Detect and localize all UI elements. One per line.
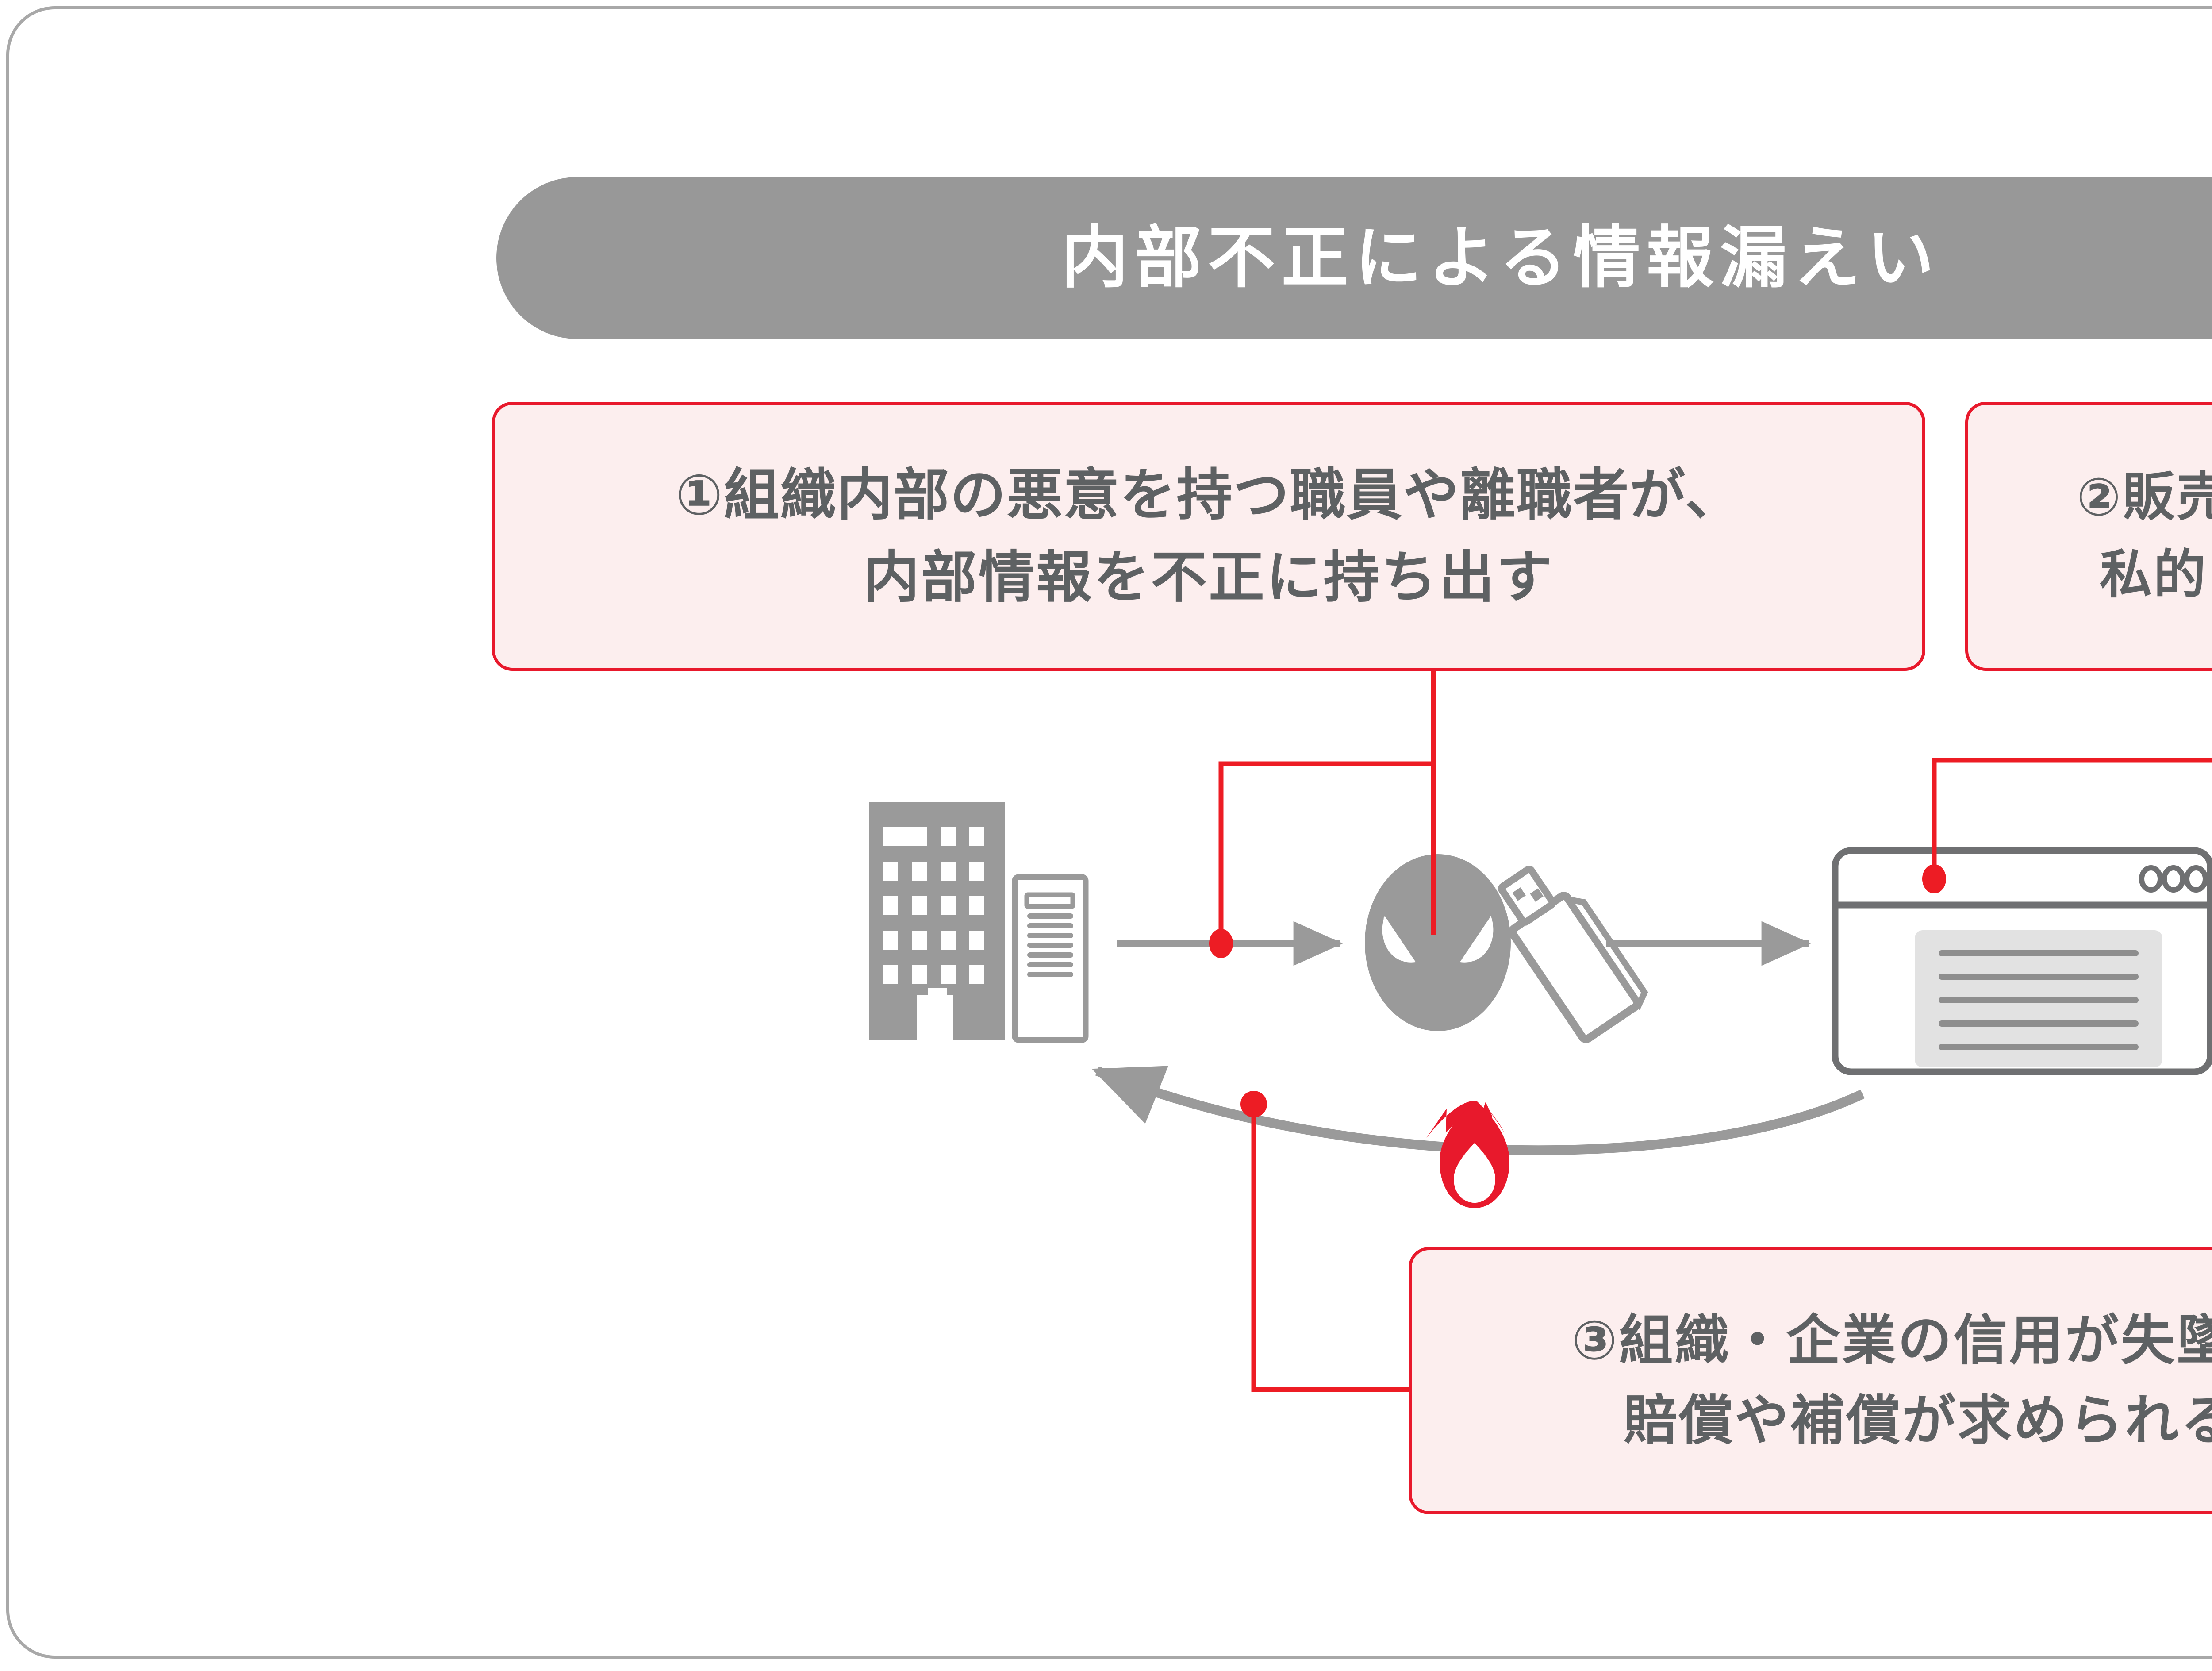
browser-window-icon <box>1835 851 2210 1072</box>
callout-3-line-2: 賠償や補償が求められる。 <box>1623 1381 2212 1461</box>
flame-icon <box>1427 1101 1509 1208</box>
callout-2-line-2: 私的に利用 <box>2100 536 2212 614</box>
figure-canvas: 内部不正による情報漏えい <box>0 0 2212 1671</box>
usb-flash-drive-icon <box>1488 854 1648 1041</box>
connector-dot <box>1240 1091 1267 1117</box>
document-building-icon <box>1015 877 1086 1040</box>
masked-thief-icon <box>1365 854 1511 1031</box>
connector-dot <box>1209 929 1233 958</box>
callout-box-3: ③組織・企業の信用が失墜し、 賠償や補償が求められる。 <box>1409 1247 2212 1514</box>
office-building-icon <box>869 802 1005 1041</box>
callout-1-line-2: 内部情報を不正に持ち出す <box>864 536 1554 619</box>
callout-1-line-1: ①組織内部の悪意を持つ職員や離職者が、 <box>676 454 1742 536</box>
callout-2-line-1: ②販売したり <box>2077 459 2212 536</box>
callout-3-line-1: ③組織・企業の信用が失墜し、 <box>1571 1301 2212 1381</box>
callout-box-1: ①組織内部の悪意を持つ職員や離職者が、 内部情報を不正に持ち出す <box>492 402 1925 671</box>
connector-dot <box>1922 864 1946 893</box>
callout-box-2: ②販売したり 私的に利用 <box>1965 402 2212 671</box>
